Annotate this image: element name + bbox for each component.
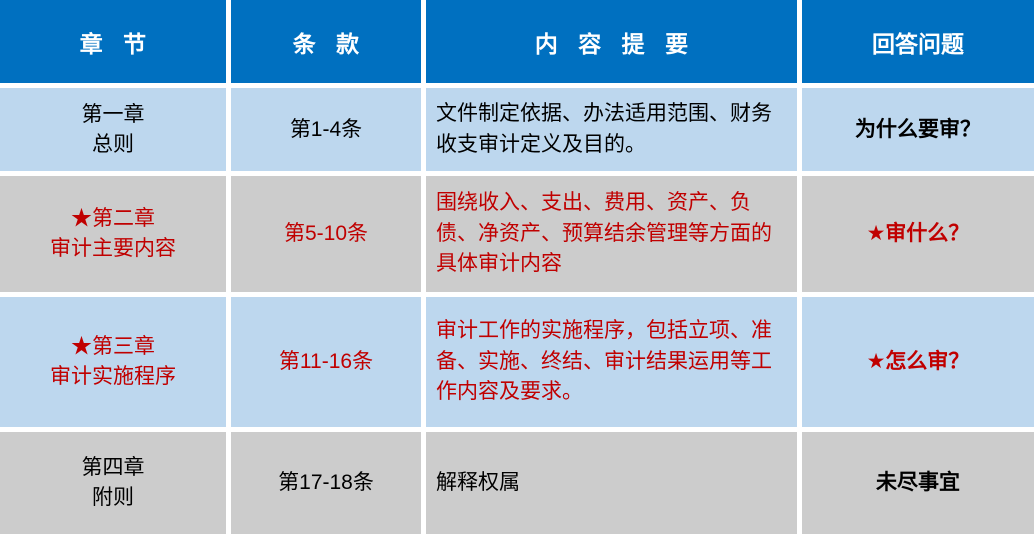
header-summary-label: 内 容 提 要: [432, 25, 791, 59]
cell-clause: 第5-10条: [237, 219, 415, 248]
cell-question: ★审什么？: [808, 219, 1028, 248]
table-row: 文件制定依据、办法适用范围、财务收支审计定义及目的。: [426, 88, 797, 171]
table-row: 未尽事宜: [802, 432, 1034, 534]
cell-summary: 文件制定依据、办法适用范围、财务收支审计定义及目的。: [436, 99, 789, 160]
table-row: ★审什么？: [802, 176, 1034, 292]
table-row: 为什么要审？: [802, 88, 1034, 171]
cell-chapter: 第四章 附则: [6, 453, 220, 513]
header-cell-question: 回答问题: [802, 0, 1034, 83]
table-row: 第一章 总则: [0, 88, 226, 171]
table-row: 第17-18条: [231, 432, 421, 534]
header-chapter-label: 章 节: [6, 25, 220, 59]
table-row: 第四章 附则: [0, 432, 226, 534]
header-cell-clause: 条 款: [231, 0, 421, 83]
cell-chapter: ★第三章 审计实施程序: [6, 332, 220, 392]
table-row: 第5-10条: [231, 176, 421, 292]
table-row: 审计工作的实施程序，包括立项、准备、实施、终结、审计结果运用等工作内容及要求。: [426, 297, 797, 427]
header-cell-summary: 内 容 提 要: [426, 0, 797, 83]
cell-clause: 第17-18条: [237, 468, 415, 497]
header-clause-label: 条 款: [237, 25, 415, 59]
table-row: ★第三章 审计实施程序: [0, 297, 226, 427]
chapter-summary-table: 章 节 条 款 内 容 提 要 回答问题 第一章 总则 第1-4条 文件制定依据…: [0, 0, 1034, 534]
table-row: ★第二章 审计主要内容: [0, 176, 226, 292]
table-row: 第11-16条: [231, 297, 421, 427]
cell-chapter: 第一章 总则: [6, 100, 220, 160]
table-row: 围绕收入、支出、费用、资产、负债、净资产、预算结余管理等方面的具体审计内容: [426, 176, 797, 292]
cell-question: ★怎么审？: [808, 347, 1028, 376]
cell-chapter: ★第二章 审计主要内容: [6, 204, 220, 264]
cell-clause: 第1-4条: [237, 115, 415, 144]
cell-summary: 围绕收入、支出、费用、资产、负债、净资产、预算结余管理等方面的具体审计内容: [436, 188, 789, 279]
cell-summary: 解释权属: [436, 468, 789, 498]
table-row: 第1-4条: [231, 88, 421, 171]
header-question-label: 回答问题: [808, 25, 1028, 59]
cell-clause: 第11-16条: [237, 347, 415, 376]
cell-question: 为什么要审？: [808, 115, 1028, 144]
header-cell-chapter: 章 节: [0, 0, 226, 83]
table-row: 解释权属: [426, 432, 797, 534]
cell-summary: 审计工作的实施程序，包括立项、准备、实施、终结、审计结果运用等工作内容及要求。: [436, 316, 789, 407]
cell-question: 未尽事宜: [808, 468, 1028, 497]
table-row: ★怎么审？: [802, 297, 1034, 427]
